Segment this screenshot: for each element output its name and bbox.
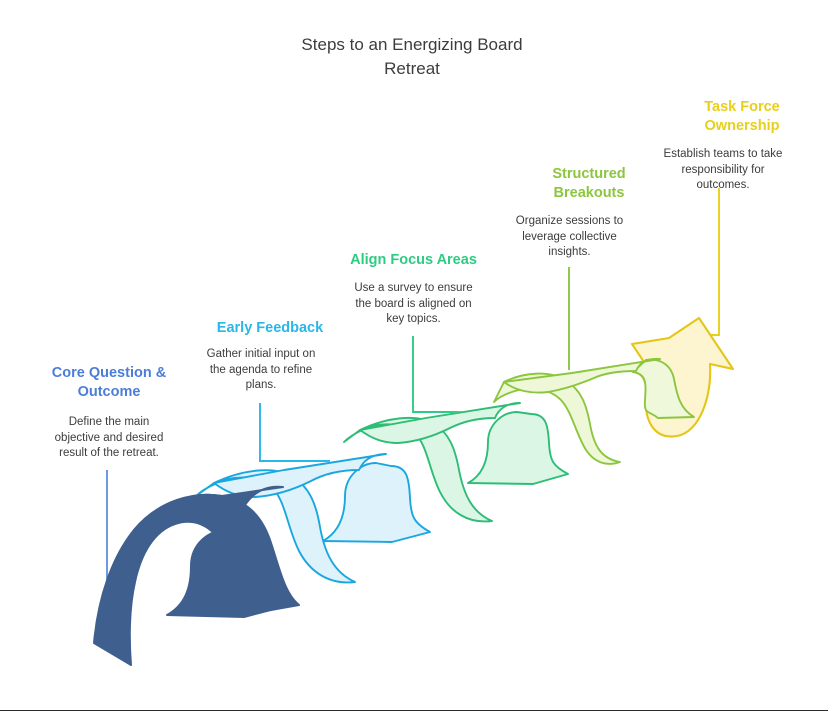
connector-line-2: [260, 403, 330, 461]
step-label-core-question: Core Question & Outcome: [24, 364, 194, 402]
step-label-structured-breakouts: Structured Breakouts: [509, 165, 669, 203]
step-desc-early-feedback: Gather initial input on the agenda to re…: [197, 347, 325, 394]
bottom-divider: [0, 710, 828, 711]
step-label-task-force-ownership: Task Force Ownership: [662, 98, 822, 136]
connector-line-5: [690, 188, 719, 335]
step-desc-align-focus-areas: Use a survey to ensure the board is alig…: [345, 281, 482, 328]
step-label-align-focus-areas: Align Focus Areas: [333, 251, 494, 270]
step-shape-1: [94, 487, 299, 665]
step-desc-structured-breakouts: Organize sessions to leverage collective…: [505, 214, 634, 261]
step-label-early-feedback: Early Feedback: [190, 319, 350, 338]
step-desc-core-question: Define the main objective and desired re…: [44, 415, 174, 462]
connector-line-3: [413, 336, 470, 412]
step-desc-task-force-ownership: Establish teams to take responsibility f…: [653, 147, 793, 194]
page-title: Steps to an Energizing Board Retreat: [247, 33, 577, 81]
